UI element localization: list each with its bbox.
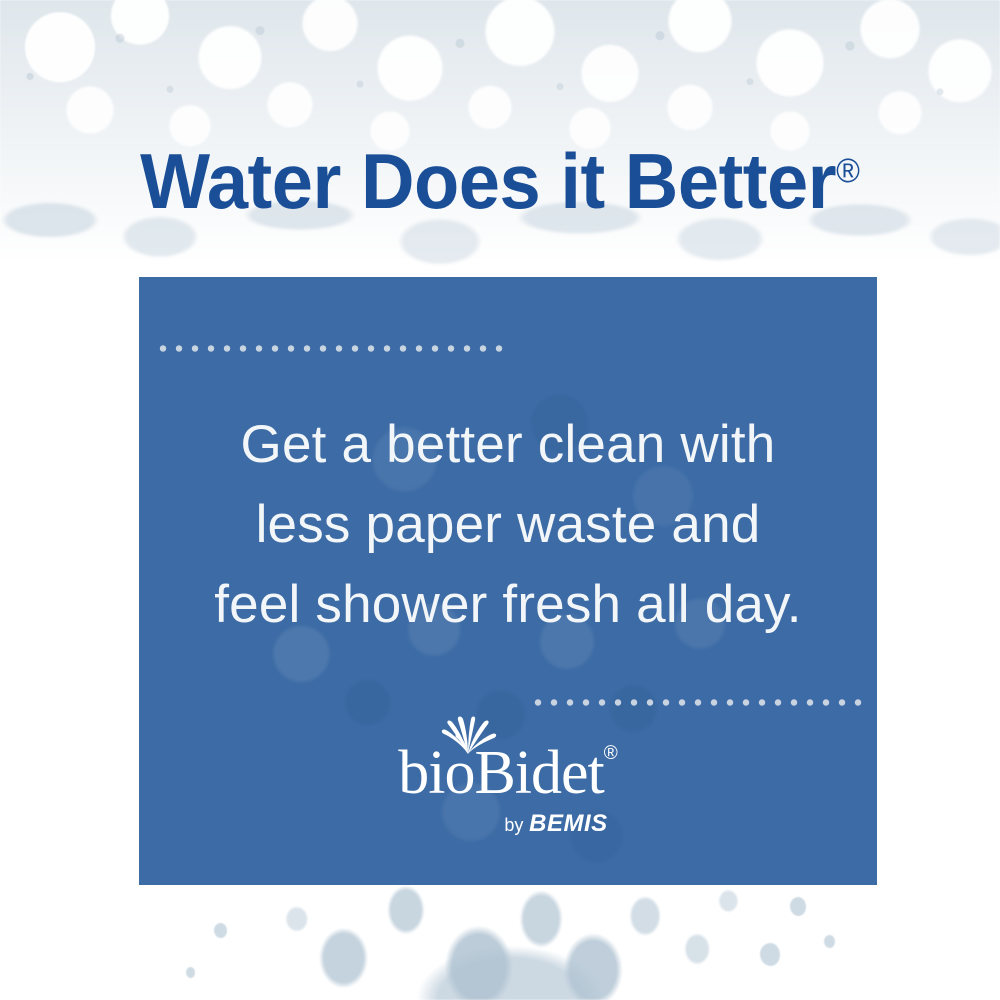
page-title: Water Does it Better® (25, 142, 975, 220)
registered-trademark-icon: ® (836, 152, 860, 190)
water-spray-icon (432, 714, 504, 754)
divider-dotted-top (155, 345, 507, 352)
tagline-line-3: feel shower fresh all day. (139, 565, 877, 645)
droplet-icon (186, 967, 195, 978)
headline-text: Water Does it Better (140, 137, 836, 225)
brand-logo: bioBidet® by BEMIS (139, 742, 877, 836)
tagline-line-1: Get a better clean with (139, 405, 877, 485)
droplet-icon (824, 935, 835, 948)
marketing-banner: Water Does it Better® Get a better clean… (0, 0, 1000, 1000)
droplet-icon (790, 897, 806, 916)
byline-prefix: by (504, 815, 523, 835)
tagline-block: Get a better clean with less paper waste… (139, 405, 877, 645)
tagline-line-2: less paper waste and (139, 485, 877, 565)
byline-brand: BEMIS (529, 810, 608, 837)
logo-registered-trademark-icon: ® (604, 743, 618, 764)
logo-wordmark: bioBidet® (398, 742, 618, 804)
droplet-icon (214, 923, 227, 938)
divider-dotted-bottom (530, 699, 866, 706)
droplet-icon (760, 943, 780, 966)
logo-byline: by BEMIS (139, 812, 877, 836)
